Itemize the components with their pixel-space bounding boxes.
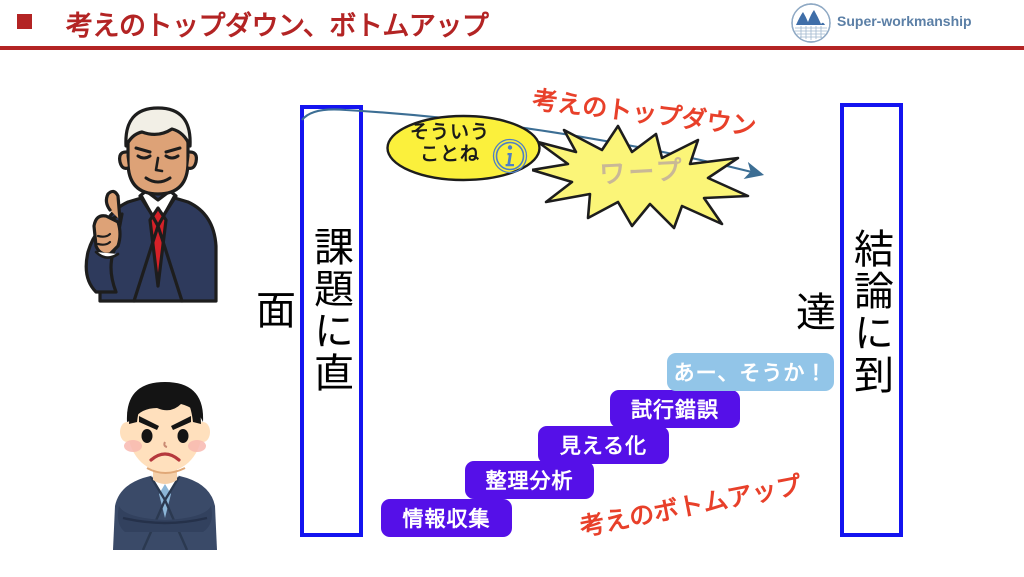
step-box-5-insight[interactable]: あー、そうか！	[667, 353, 834, 391]
info-icon	[492, 138, 528, 174]
step-box-4[interactable]: 試行錯誤	[610, 390, 740, 428]
pillar-right-box: 結論に到達	[840, 103, 903, 537]
senior-man-pointing-illustration	[62, 96, 252, 304]
warp-label: ワープ	[571, 148, 713, 192]
square-bullet-icon	[17, 14, 32, 29]
step-box-3[interactable]: 見える化	[538, 426, 669, 464]
bottom-up-label: 考えのボトムアップ	[577, 465, 805, 543]
pillar-left-box: 課題に直面	[300, 105, 363, 537]
pillar-left-label: 課題に直面	[304, 215, 359, 405]
speech-bubble-line-1: そういう	[400, 122, 500, 144]
brand-name: Super-workmanship	[837, 13, 972, 29]
junior-man-thinking-illustration	[85, 368, 245, 550]
step-box-2[interactable]: 整理分析	[465, 461, 594, 499]
mountain-emblem-icon	[791, 3, 831, 43]
brand-logo: Super-workmanship	[791, 3, 1011, 45]
page-title: 考えのトップダウン、ボトムアップ	[66, 4, 488, 43]
pillar-right-label: 結論に到達	[844, 217, 899, 407]
speech-bubble-label: そういう ことね	[400, 122, 500, 167]
header-divider	[0, 46, 1024, 50]
step-box-1[interactable]: 情報収集	[381, 499, 512, 537]
speech-bubble-line-2: ことね	[400, 144, 500, 166]
slide-canvas: 考えのトップダウン、ボトムアップ Super-workmanship	[0, 0, 1024, 577]
